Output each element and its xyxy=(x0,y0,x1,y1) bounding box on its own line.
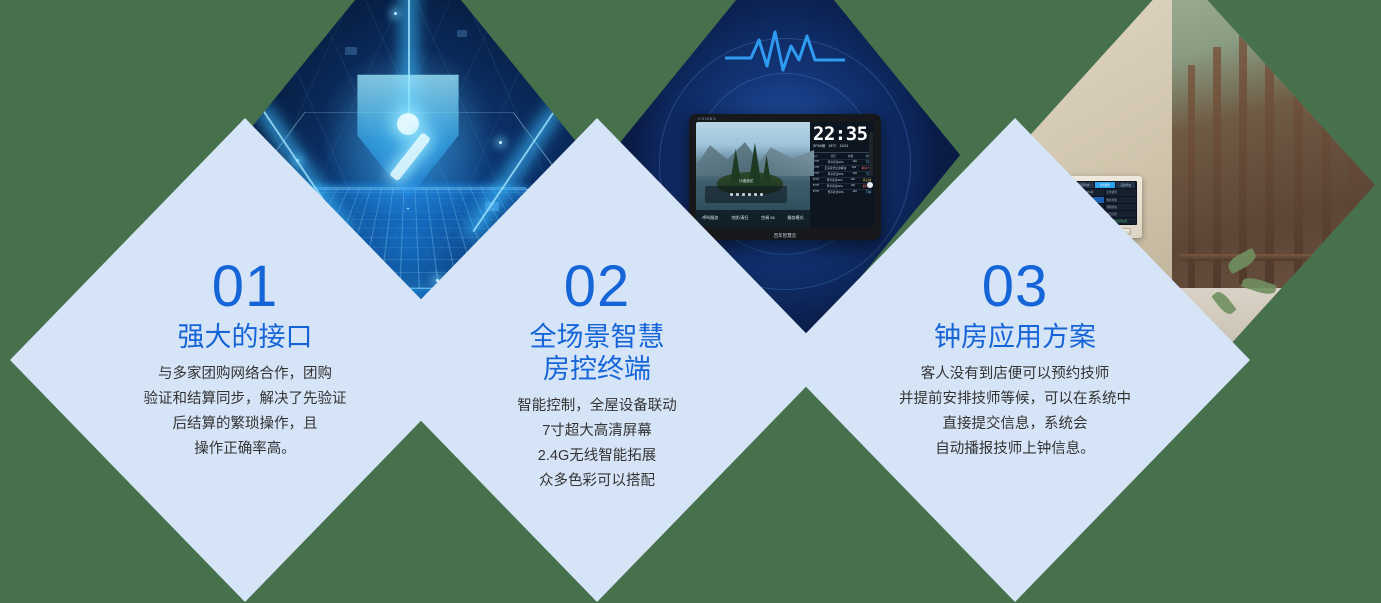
clock-widget: 22:35 SPA6房 26°C 11/24 xyxy=(810,122,874,151)
bottom-button-1[interactable]: 勿扰/清扫 xyxy=(731,215,748,221)
card-description: 客人没有到店便可以预约技师 并提前安排技师等候，可以在系统中 直接提交信息，系统… xyxy=(899,362,1131,462)
tablet-screen[interactable]: 沙滩浪花 呼叫服务 勿扰/清扫 空调 26 服务模式 xyxy=(696,122,874,227)
panel-cell-r0[interactable]: 正常使用 xyxy=(1105,189,1135,195)
col-project: 项目 xyxy=(830,154,835,158)
wallpaper-scenery: 沙滩浪花 呼叫服务 勿扰/清扫 空调 26 服务模式 xyxy=(696,122,810,227)
cell-project: 尊享养生SPA xyxy=(828,190,844,194)
media-control-bar[interactable]: 沙滩浪花 xyxy=(705,186,787,204)
screen-side-strip xyxy=(869,132,873,176)
tablet-info-panel: 22:35 SPA6房 26°C 11/24 技人 项目 钟数 xyxy=(810,122,874,227)
media-forward-icon[interactable] xyxy=(748,193,751,196)
cell-status: 下钟 xyxy=(866,190,871,194)
media-track-label: 沙滩浪花 xyxy=(705,179,787,184)
cell-technician: 8778 xyxy=(813,184,819,188)
cell-clock: 1#2 xyxy=(852,160,856,164)
panel-tabs[interactable]: 房间状态 房务服务 设备状态 xyxy=(1074,182,1135,188)
service-table: 技人 项目 钟数 状态 8778 尊享养生SPA 1#2 下钟 xyxy=(812,152,872,195)
panel-cell-r1[interactable]: 维护状态 xyxy=(1105,197,1135,203)
cell-project: 尊享养生SPA xyxy=(828,160,844,164)
cell-project: 正宗泰式全身精油 xyxy=(825,166,847,170)
temperature-label: 26°C xyxy=(828,144,836,148)
tablet-brand-label: CSIZBO xyxy=(698,116,717,121)
panel-cell-r2[interactable]: 预留状态 xyxy=(1105,204,1135,210)
cell-clock: 1#2 xyxy=(851,184,855,188)
date-label: 11/24 xyxy=(839,144,848,148)
bottom-button-0[interactable]: 呼叫服务 xyxy=(702,215,718,221)
card-title: 强大的接口 xyxy=(178,322,313,354)
card-description: 与多家团购网络合作，团购 验证和结算同步，解决了先验证 后结算的繁琐操作，且 操… xyxy=(144,362,347,462)
card-description: 智能控制，全屋设备联动 7寸超大高清屏幕 2.4G无线智能拓展 众多色彩可以搭配 xyxy=(517,394,677,494)
panel-tab-2[interactable]: 设备状态 xyxy=(1116,182,1136,188)
bottom-button-2[interactable]: 空调 26 xyxy=(761,215,775,221)
tablet-logo-label: 百年智慧云 xyxy=(774,233,797,239)
cell-project: 尊享养生SPA xyxy=(827,178,843,182)
tablet-bottom-bar[interactable]: 呼叫服务 勿扰/清扫 空调 26 服务模式 xyxy=(696,210,810,227)
card-title: 全场景智慧 房控终端 xyxy=(530,322,665,386)
media-play-icon[interactable] xyxy=(742,193,745,196)
card-number: 03 xyxy=(982,258,1049,316)
panel-tab-1[interactable]: 房务服务 xyxy=(1095,182,1115,188)
media-rewind-icon[interactable] xyxy=(736,193,739,196)
feature-diamond-grid: CSIZBO 沙滩浪花 xyxy=(0,0,1381,603)
card-number: 02 xyxy=(564,258,631,316)
clock-time: 22:35 xyxy=(813,125,872,143)
bottom-button-3[interactable]: 服务模式 xyxy=(787,215,803,221)
room-label: SPA6房 xyxy=(813,144,826,149)
cell-clock: 1#2 xyxy=(852,190,856,194)
cell-project: 尊享养生SPA xyxy=(828,172,844,176)
heartbeat-pulse-icon xyxy=(725,26,845,78)
media-prev-icon[interactable] xyxy=(730,193,733,196)
cell-status: 待上钟 xyxy=(863,178,871,182)
cell-project: 尊享养生SPA xyxy=(827,184,843,188)
cell-technician: 8778 xyxy=(813,178,819,182)
home-button-icon[interactable] xyxy=(867,182,873,188)
cell-clock: 1#2 xyxy=(852,166,856,170)
cell-clock: 1#2 xyxy=(852,172,856,176)
media-volume-icon[interactable] xyxy=(760,193,763,196)
card-number: 01 xyxy=(212,258,279,316)
cell-technician: 8778 xyxy=(813,190,819,194)
cell-clock: 1#2 xyxy=(851,178,855,182)
col-clock: 钟数 xyxy=(848,154,853,158)
table-row: 8778 尊享养生SPA 1#2 下钟 xyxy=(812,189,872,195)
card-title: 钟房应用方案 xyxy=(934,322,1096,354)
plant-leaf-4 xyxy=(1257,321,1289,338)
media-next-icon[interactable] xyxy=(754,193,757,196)
smart-room-tablet[interactable]: CSIZBO 沙滩浪花 xyxy=(689,114,881,240)
plant-hanging xyxy=(1274,39,1296,79)
